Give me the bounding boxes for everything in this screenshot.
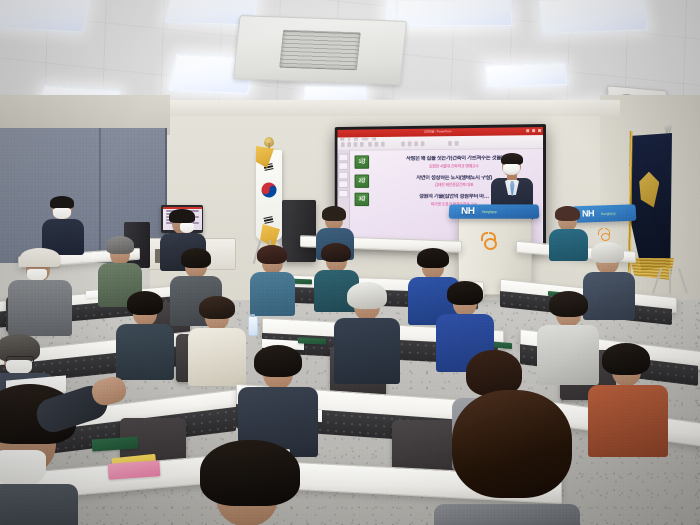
person-hair [181,248,211,268]
nh-wall-sign: NH Nonghyup [572,204,637,223]
person-hair [200,440,300,506]
lecture-badge: 2강 [355,174,370,187]
nh-brand-subtext: Nonghyup [482,210,497,214]
ribbon-tab[interactable]: 파일 [340,137,344,141]
person-hair [602,343,650,375]
person-hair [452,390,572,498]
person-torso [588,385,668,457]
person-hair [322,206,346,221]
person-hair [169,209,195,223]
slide-thumbnail[interactable] [338,189,348,197]
face-mask-icon [53,208,71,219]
person-hair [417,248,449,268]
ceiling-led-panel [538,0,648,34]
person-hair [347,282,387,309]
presenter-hair [501,153,523,165]
ribbon-tab[interactable]: 전환 [372,137,376,141]
person-hair [591,242,624,263]
person-torso [0,484,78,525]
podium-brand-band: NH Nonghyup [449,204,540,218]
face-mask-icon [503,164,520,175]
ribbon-command-group[interactable] [401,141,424,146]
ceiling-led-panel [0,0,92,32]
ram-horn-emblem-icon [481,232,496,247]
window-controls[interactable] [526,129,541,132]
trigram-icon [263,215,273,225]
lecture-badge: 3강 [355,193,370,206]
slide-thumbnail[interactable] [338,153,348,161]
powerpoint-title-text: 강의자료 - PowerPoint [424,129,451,133]
ribbon-tab[interactable]: 홈 [348,137,350,141]
person-cap [20,248,60,267]
person-torso [250,272,295,316]
ceiling-led-panel [398,0,513,26]
lecture-badge: 1강 [355,155,370,168]
nh-brand-text: NH [582,209,594,219]
taeguk-symbol-icon [260,181,277,198]
nh-brand-text: NH [461,206,475,216]
person-torso [434,504,580,525]
person-hair [555,206,580,221]
ribbon-command-group[interactable] [368,141,384,146]
person-hair [106,236,134,254]
person-torso [549,229,588,261]
ceiling-soffit [150,100,620,116]
person-torso [537,325,599,385]
person-hair [321,243,351,262]
nh-brand-subtext: Nonghyup [601,212,616,216]
ceiling-led-panel [485,63,567,88]
person-hair [549,291,588,317]
ribbon-tab[interactable]: 삽입 [354,137,358,141]
ribbon-command-group[interactable] [448,140,458,145]
person-hair [127,291,163,315]
hand-sanitizer-bottle [248,316,258,336]
person-hair [257,245,287,264]
person-hair [254,345,302,377]
ram-horn-emblem-icon [598,228,610,240]
person-torso [583,272,635,320]
ribbon-command-group[interactable] [341,142,364,147]
person-hair [447,281,483,305]
flag-stand [648,268,692,294]
slide-thumbnail[interactable] [338,180,348,188]
slide-thumbnail[interactable] [338,171,348,179]
person-hair [199,296,235,319]
person-torso [188,328,246,386]
slide-thumbnail[interactable] [338,162,348,170]
person-torso [8,280,72,336]
person-torso [116,324,174,380]
face-mask-icon [180,223,194,233]
person-torso [334,318,400,384]
lecture-hall-photo: 강의자료 - PowerPoint 파일 홈 삽입 디자인 전환 [0,0,700,525]
ceiling-ac-cassette [233,15,407,85]
